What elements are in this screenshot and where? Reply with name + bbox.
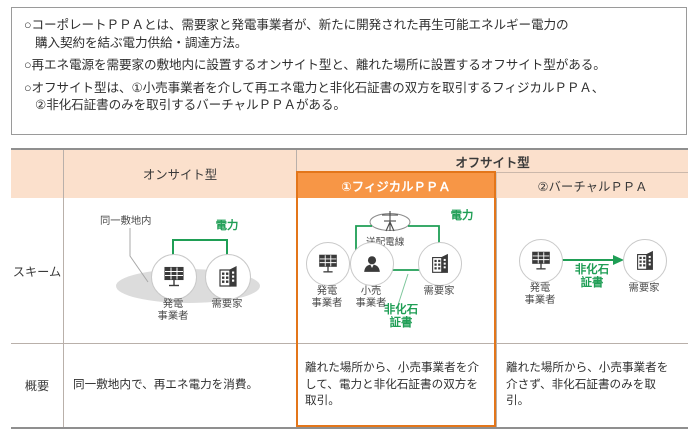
physical-retailer-caption: 小売 事業者 <box>341 286 401 311</box>
outline-onsite-text: 同一敷地内で、再エネ電力を消費。 <box>64 343 296 427</box>
onsite-generator-caption-l2: 事業者 <box>158 311 189 322</box>
virtual-cert-l1: 非化石 <box>575 264 609 276</box>
virtual-cert-l2: 証書 <box>581 277 604 289</box>
physical-consumer-caption: 需要家 <box>409 286 469 298</box>
solar-panel-icon <box>161 264 187 290</box>
physical-consumer-circle <box>418 242 462 286</box>
transmission-tower-icon <box>370 211 410 231</box>
onsite-consumer-circle <box>205 254 251 300</box>
header-physical-ppa: ①フィジカルＰＰＡ <box>296 173 496 198</box>
table-bottom-rule <box>11 427 688 429</box>
row-label-scheme: スキーム <box>11 198 63 343</box>
header-offsite-group: オフサイト型 <box>296 150 688 173</box>
physical-ret-l1: 小売 <box>361 286 382 297</box>
onsite-power-label: 電力 <box>204 220 250 233</box>
summary-line-5: ②非化石証書のみを取引するバーチャルＰＰＡがある。 <box>24 97 674 115</box>
cell-outline-physical: 離れた場所から、小売事業者を介して、電力と非化石証書の双方を取引。 <box>296 343 496 427</box>
summary-line-3: ○再エネ電源を需要家の敷地内に設置するオンサイト型と、離れた場所に設置するオフサ… <box>24 57 674 75</box>
summary-line-2: 購入契約を結ぶ電力供給・調達方法。 <box>24 35 674 53</box>
comparison-table: オンサイト型 オフサイト型 ①フィジカルＰＰＡ ②バーチャルＰＰＡ スキーム <box>11 148 688 429</box>
virtual-consumer-caption: 需要家 <box>614 283 674 295</box>
onsite-generator-caption-l1: 発電 <box>163 299 184 310</box>
physical-retailer-circle <box>350 242 394 286</box>
summary-text-4: オフサイト型は、①小売事業者を介して再エネ電力と非化石証書の双方を取引するフィジ… <box>32 81 605 95</box>
onsite-generator-caption: 発電 事業者 <box>143 299 203 324</box>
physical-generator-circle <box>306 242 350 286</box>
bullet-marker-1: ○ <box>24 18 32 32</box>
summary-text-1: コーポレートＰＰＡとは、需要家と発電事業者が、新たに開発された再生可能エネルギー… <box>32 18 569 32</box>
virtual-ppa-diagram: 非化石 証書 発電 事業者 需要家 <box>497 198 688 343</box>
row-label-outline: 概要 <box>11 343 63 427</box>
solar-panel-icon <box>529 249 553 273</box>
header-virtual-ppa: ②バーチャルＰＰＡ <box>496 173 688 198</box>
physical-gen-l1: 発電 <box>317 286 338 297</box>
cell-scheme-virtual: 非化石 証書 発電 事業者 需要家 <box>496 198 688 343</box>
solar-panel-icon <box>316 252 340 276</box>
physical-gen-l2: 事業者 <box>312 298 343 309</box>
summary-text-3: 再エネ電源を需要家の敷地内に設置するオンサイト型と、離れた場所に設置するオフサイ… <box>32 58 606 72</box>
outline-physical-text: 離れた場所から、小売事業者を介して、電力と非化石証書の双方を取引。 <box>296 343 496 427</box>
header-onsite: オンサイト型 <box>63 150 296 198</box>
virtual-gen-l1: 発電 <box>530 283 551 294</box>
physical-ppa-diagram: 電力 送配電線 非化石 証書 <box>296 198 496 343</box>
building-icon <box>633 249 657 273</box>
onsite-generator-circle <box>151 254 197 300</box>
person-icon <box>360 252 384 276</box>
physical-cert-l2: 証書 <box>390 317 413 329</box>
bullet-marker-3: ○ <box>24 58 32 72</box>
summary-line-1: ○コーポレートＰＰＡとは、需要家と発電事業者が、新たに開発された再生可能エネルギ… <box>24 17 674 35</box>
table-row-scheme: スキーム 同一敷地内 電力 <box>11 198 688 343</box>
physical-power-label: 電力 <box>439 210 485 223</box>
table-row-outline: 概要 同一敷地内で、再エネ電力を消費。 離れた場所から、小売事業者を介して、電力… <box>11 343 688 427</box>
onsite-consumer-caption: 需要家 <box>197 299 257 311</box>
virtual-gen-l2: 事業者 <box>525 295 556 306</box>
cell-outline-virtual: 離れた場所から、小売事業者を介さず、非化石証書のみを取引。 <box>496 343 688 427</box>
cell-scheme-onsite: 同一敷地内 電力 <box>63 198 296 343</box>
cell-outline-onsite: 同一敷地内で、再エネ電力を消費。 <box>63 343 296 427</box>
outline-virtual-text: 離れた場所から、小売事業者を介さず、非化石証書のみを取引。 <box>497 343 688 427</box>
summary-line-4: ○オフサイト型は、①小売事業者を介して再エネ電力と非化石証書の双方を取引するフィ… <box>24 80 674 98</box>
virtual-consumer-circle <box>623 239 667 283</box>
building-icon <box>215 264 241 290</box>
virtual-generator-circle <box>519 239 563 283</box>
table-header: オンサイト型 オフサイト型 ①フィジカルＰＰＡ ②バーチャルＰＰＡ <box>11 150 688 198</box>
header-corner-cell <box>11 150 63 198</box>
virtual-generator-caption: 発電 事業者 <box>510 283 570 308</box>
onsite-diagram: 同一敷地内 電力 <box>64 198 296 343</box>
onsite-site-label: 同一敷地内 <box>100 212 151 227</box>
physical-ret-l2: 事業者 <box>356 298 387 309</box>
building-icon <box>428 252 452 276</box>
summary-text-box: ○コーポレートＰＰＡとは、需要家と発電事業者が、新たに開発された再生可能エネルギ… <box>11 7 687 135</box>
slide-canvas: ○コーポレートＰＰＡとは、需要家と発電事業者が、新たに開発された再生可能エネルギ… <box>0 0 700 436</box>
virtual-certificate-label: 非化石 証書 <box>566 264 618 289</box>
cell-scheme-physical: 電力 送配電線 非化石 証書 <box>296 198 496 343</box>
bullet-marker-4: ○ <box>24 81 32 95</box>
